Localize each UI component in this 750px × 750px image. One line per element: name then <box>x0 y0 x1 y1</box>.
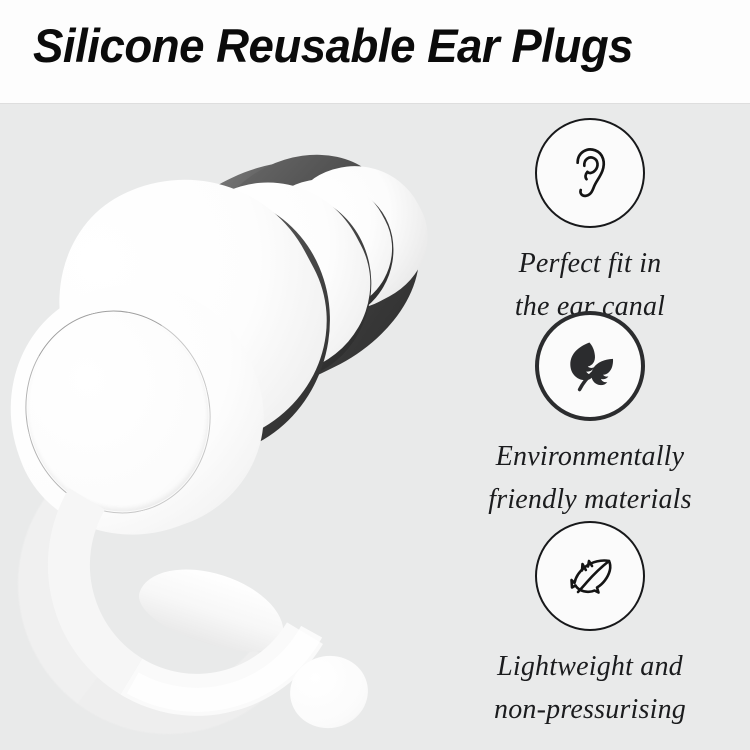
feature-caption-line: Environmentally <box>430 435 750 478</box>
leaves-icon <box>535 311 645 421</box>
feature-item-eco-friendly: Environmentally friendly materials <box>430 311 750 521</box>
feature-list: Perfect fit in the ear canal Environment… <box>430 104 750 750</box>
feature-caption: Environmentally friendly materials <box>430 435 750 521</box>
header-band: Silicone Reusable Ear Plugs <box>0 0 750 104</box>
feature-caption-line: friendly materials <box>430 478 750 521</box>
ear-icon <box>535 118 645 228</box>
feature-caption: Lightweight and non-pressurising <box>430 645 750 731</box>
feature-caption-line: Perfect fit in <box>430 242 750 285</box>
feature-caption-line: Lightweight and <box>430 645 750 688</box>
product-feature-poster: Silicone Reusable Ear Plugs <box>0 0 750 750</box>
feature-caption-line: non-pressurising <box>430 688 750 731</box>
page-title: Silicone Reusable Ear Plugs <box>33 17 712 75</box>
product-image <box>0 104 460 750</box>
feature-item-lightweight: Lightweight and non-pressurising <box>430 521 750 731</box>
feature-item-perfect-fit: Perfect fit in the ear canal <box>430 118 750 328</box>
feather-icon <box>535 521 645 631</box>
